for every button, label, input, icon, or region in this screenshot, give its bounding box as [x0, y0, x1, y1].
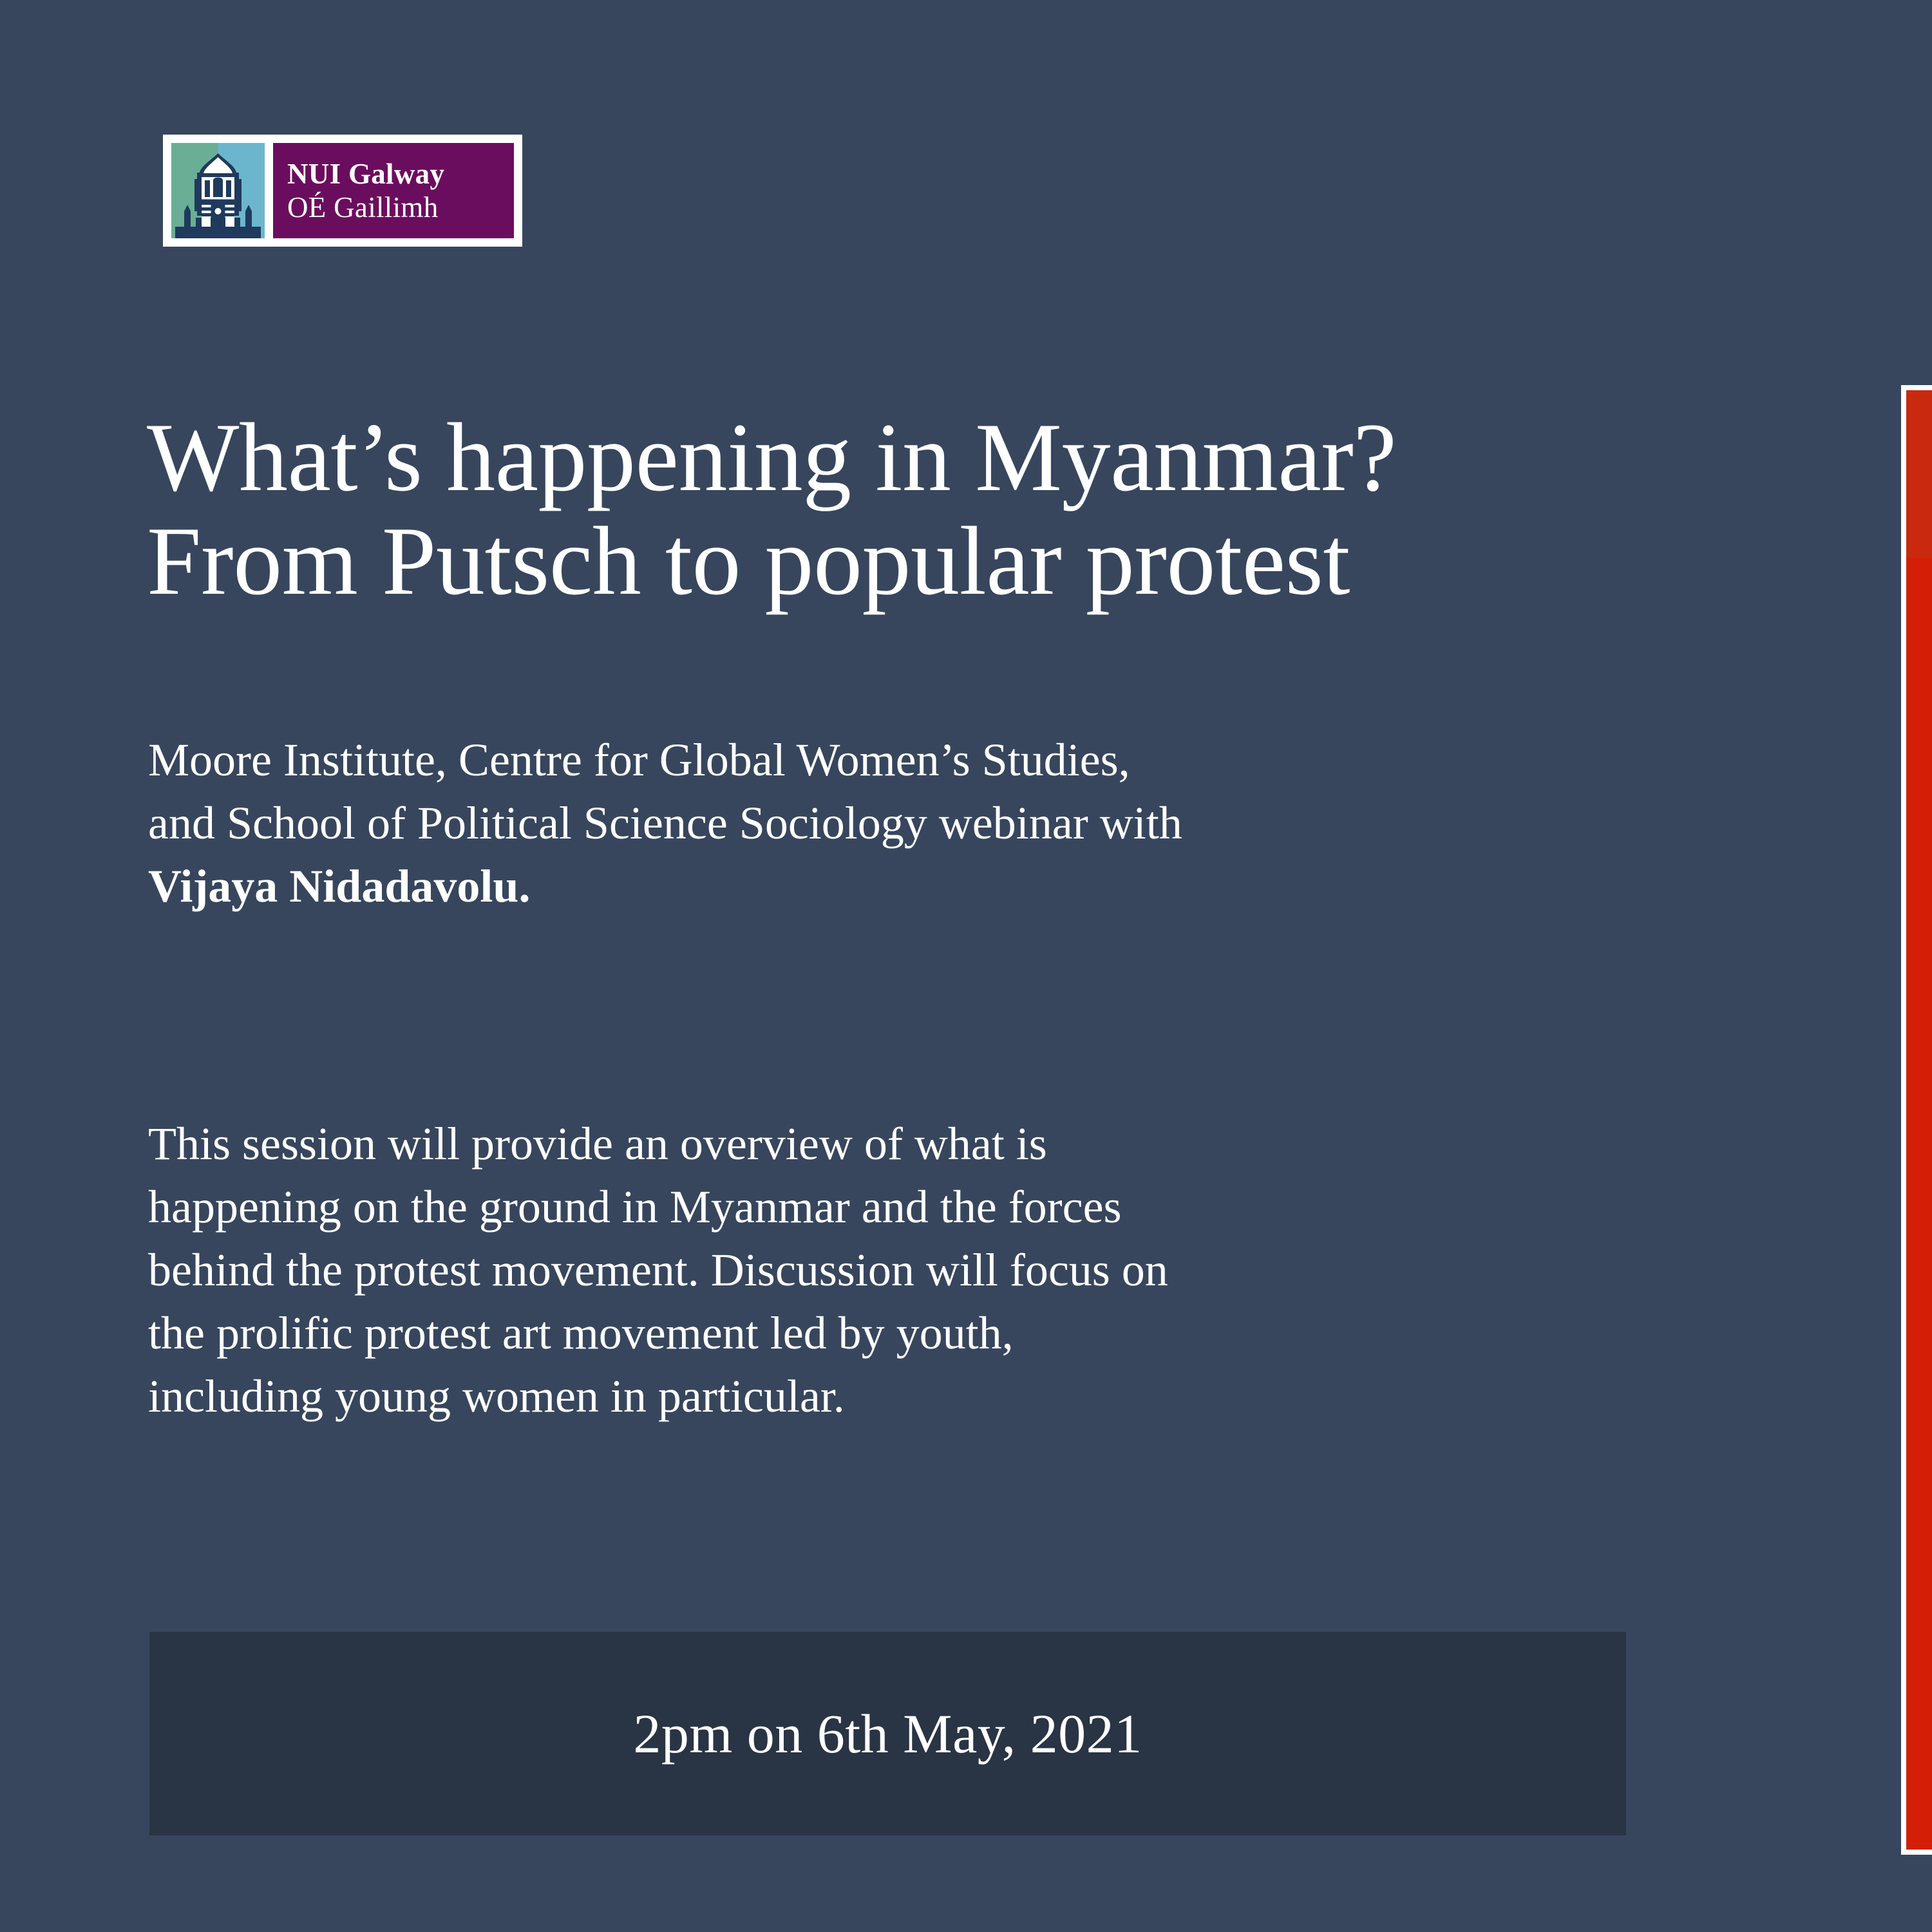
logo-wordmark: NUI Galway OÉ Gaillimh — [273, 143, 514, 238]
event-poster-slide: NUI Galway OÉ Gaillimh What’s happening … — [0, 0, 1932, 1932]
speaker-name: Vijaya Nidadavolu. — [148, 855, 1726, 918]
description-line-2: happening on the ground in Myanmar and t… — [148, 1176, 1726, 1239]
title-line-2: From Putsch to popular protest — [147, 509, 1821, 613]
galway-tower-crest-icon — [171, 143, 265, 238]
title-line-1: What’s happening in Myanmar? — [147, 406, 1821, 509]
description-line-1: This session will provide an overview of… — [148, 1113, 1726, 1176]
description-line-4: the prolific protest art movement led by… — [148, 1302, 1726, 1365]
red-accent-fill — [1906, 390, 1932, 1850]
organisers-line-2: and School of Political Science Sociolog… — [148, 792, 1726, 855]
date-time-text: 2pm on 6th May, 2021 — [633, 1706, 1142, 1761]
description-line-3: behind the protest movement. Discussion … — [148, 1239, 1726, 1302]
logo-line-english: NUI Galway — [287, 157, 514, 191]
description-line-5: including young women in particular. — [148, 1365, 1726, 1428]
organisers-line-1: Moore Institute, Centre for Global Women… — [148, 729, 1726, 792]
session-description: This session will provide an overview of… — [148, 1113, 1726, 1428]
organisers-and-speaker: Moore Institute, Centre for Global Women… — [148, 729, 1726, 918]
right-red-accent-bar — [1901, 385, 1932, 1855]
logo-line-irish: OÉ Gaillimh — [287, 191, 514, 224]
date-time-banner: 2pm on 6th May, 2021 — [149, 1632, 1626, 1835]
nui-galway-logo: NUI Galway OÉ Gaillimh — [163, 135, 522, 247]
page-title: What’s happening in Myanmar? From Putsch… — [147, 406, 1821, 613]
